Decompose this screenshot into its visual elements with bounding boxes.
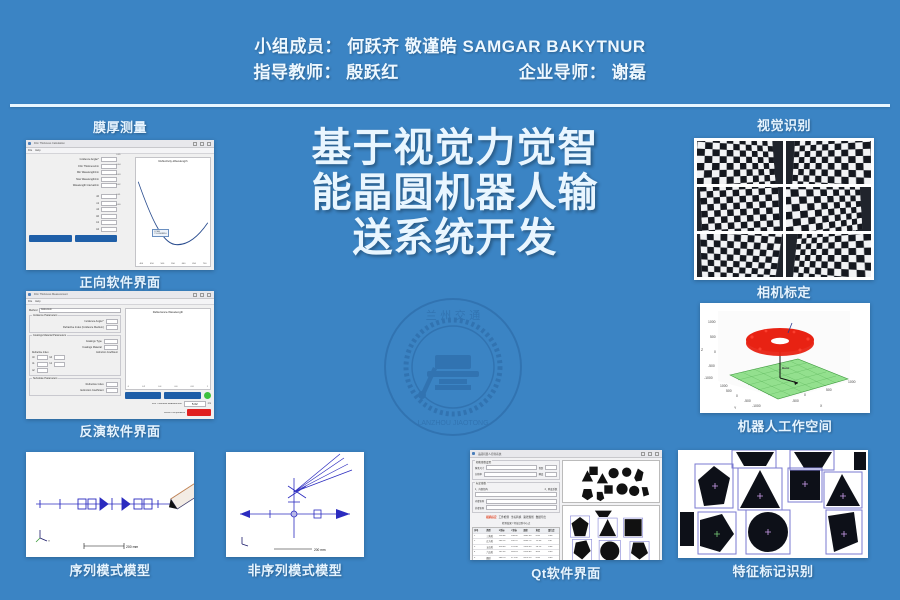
field-label: k1 (29, 221, 99, 224)
form-row: n1k1 (32, 362, 118, 367)
window-controls[interactable] (193, 293, 212, 297)
screenshot-sequential-model[interactable]: Y 200 mm (26, 452, 194, 557)
header-divider (10, 104, 890, 107)
cell: 1682.50 (522, 535, 534, 537)
panel-film-thickness-heading: 膜厚测量 (26, 120, 214, 136)
col-header-k: Extinction Coefficient (96, 352, 117, 354)
cell: 2045.75 (522, 540, 534, 542)
panel-film-thickness-caption: 正向软件界面 (26, 275, 214, 291)
window-titlebar: Film Thickness Measurement (26, 291, 214, 299)
x-tick: 0.4 (158, 386, 161, 388)
coatings-parameters-group: Coatings Material Parameters Coatings Ty… (29, 335, 121, 377)
column-headers: Refractive Index Extinction Coefficient (32, 352, 118, 354)
field-label: Wavelength Interval/nm (29, 184, 99, 187)
form-row: Incidence Angle/° (29, 157, 117, 162)
field-input[interactable] (37, 368, 48, 373)
field-input[interactable] (545, 472, 557, 477)
menu-help[interactable]: Help (35, 149, 40, 152)
field-input[interactable] (54, 355, 65, 360)
svg-text:0: 0 (804, 393, 806, 397)
field-label: 内参矩阵 (475, 499, 484, 503)
tab-path-planning[interactable]: 路径规划 (523, 515, 533, 519)
y-tick: 0.05 (116, 154, 150, 156)
x-tick: 650 (192, 263, 196, 265)
field-input[interactable] (101, 207, 117, 212)
tab-coordinate-transform[interactable]: 坐标转换 (511, 515, 521, 519)
form-row: n2 (32, 368, 118, 373)
app-icon (472, 452, 475, 455)
field-label: Min Wavelength/nm (29, 171, 99, 174)
cell: 五边形 (485, 545, 497, 549)
field-input[interactable] (101, 164, 117, 169)
x-tick: 0 (128, 386, 129, 388)
form-row: Coatings Type (32, 339, 118, 344)
calibration-image[interactable] (786, 187, 872, 230)
field-input[interactable] (484, 472, 537, 477)
panel-vision: 视觉识别 相机标定 (694, 118, 874, 301)
field-label: Incidence Angle/° (32, 320, 104, 323)
cell: 126.48 (498, 535, 510, 537)
svg-text:-1000: -1000 (704, 376, 713, 380)
field-label: 像素尺寸 (475, 466, 484, 470)
screenshot-nonsequential-model[interactable]: 200 mm (226, 452, 364, 557)
panel-qt: 晶圆机器人控制系统 相机参数设置 像素尺寸 焦距 (470, 450, 662, 582)
svg-text:0: 0 (736, 394, 738, 398)
field-input[interactable] (101, 227, 117, 232)
cell: 8.65 (535, 551, 547, 553)
field-input[interactable] (486, 505, 557, 510)
calculate-button[interactable] (29, 235, 72, 242)
field-label: n1 (29, 202, 99, 205)
result-row: Film Thickness Measurement 5.02 nm (125, 401, 211, 407)
app-icon (28, 293, 31, 296)
chart-title: Reflectance-Wavelength (126, 309, 210, 314)
cell: 0.99 (547, 557, 559, 559)
field-input[interactable] (106, 319, 118, 324)
panel-sequential-caption: 序列模式模型 (26, 563, 194, 579)
window-title: Film Thickness Measurement (33, 293, 191, 296)
panel-vision-heading: 视觉识别 (694, 118, 874, 134)
field-label: n0 (32, 357, 35, 359)
qt-subtitle: 检测结果 / 特征识别中心点 (472, 521, 560, 525)
svg-text:兰 州 交 通: 兰 州 交 通 (426, 308, 481, 322)
reflectivity-chart[interactable]: Reflectivity-Wavelength X 580 Y 0.010851… (135, 157, 211, 267)
field-input[interactable] (37, 355, 48, 360)
field-label: 分辨率 (475, 472, 482, 476)
field-label: n1 (32, 363, 35, 365)
cell: 142.37 (510, 540, 522, 542)
field-input[interactable] (54, 362, 65, 367)
method-select[interactable]: Extremum (39, 308, 120, 313)
menu-file[interactable]: File (28, 300, 32, 303)
panel-inversion: Film Thickness Measurement File Help Met… (26, 291, 214, 440)
reflectance-chart[interactable]: Reflectance-Wavelength 0 0.2 0.4 0.6 0.8… (125, 308, 211, 390)
temperature-label: Current Temperature (125, 412, 185, 414)
panel-nonsequential-caption: 非序列模式模型 (226, 563, 364, 579)
method-row: Method Extremum (29, 308, 121, 313)
field-input[interactable] (106, 388, 118, 393)
form-row: Refractive Index (Incidence Medium) (32, 325, 118, 330)
field-label: Coatings Material (32, 346, 102, 349)
cell: 六边形 (485, 550, 497, 554)
panel-workspace: 10005000 -500-1000 Z 10005000 -500-1000 … (700, 303, 870, 435)
maximize-icon[interactable] (200, 142, 204, 146)
panel-qt-caption: Qt软件界面 (470, 566, 662, 582)
svg-text:Z: Z (701, 348, 703, 352)
incidence-parameters-group: Incidence Parameters Incidence Angle/° R… (29, 315, 121, 334)
field-input[interactable] (101, 214, 117, 219)
cell: 12.40 (535, 540, 547, 542)
cell: 0.00 (535, 557, 547, 559)
svg-text:-1000: -1000 (752, 404, 761, 408)
table-row: 5圆形248.70271.922875.200.000.99 (473, 556, 559, 561)
group-title: Substrate Parameters (32, 377, 58, 380)
screenshot-robot-workspace[interactable]: 10005000 -500-1000 Z 10005000 -500-1000 … (700, 303, 870, 413)
form-row: Max Wavelength/nm (29, 177, 117, 182)
form-row: Incidence Angle/° (32, 319, 118, 324)
form-row: Extinction Coefficient (32, 388, 118, 393)
panel-feature-marks: 特征标记识别 (678, 450, 868, 580)
field-input[interactable] (101, 170, 117, 175)
reset-button[interactable] (187, 409, 211, 416)
screenshot-calibration-images[interactable] (694, 138, 874, 280)
calibration-image[interactable] (786, 234, 872, 277)
calibration-image[interactable] (697, 187, 783, 230)
result-label: Film Thickness Measurement (125, 403, 182, 405)
close-icon[interactable] (207, 293, 211, 297)
tooltip-y: Y 0.0108510 (154, 233, 166, 235)
svg-text:LANZHOU JIAOTONG: LANZHOU JIAOTONG (417, 420, 488, 427)
field-label: Incidence Angle/° (29, 158, 99, 161)
form-row: 像素尺寸 焦距 (475, 465, 557, 470)
field-input[interactable] (101, 194, 117, 199)
svg-text:1000: 1000 (708, 320, 716, 324)
header-members: 小组成员： 何跃齐 敬谨皓 SAMGAR BAKYTNUR (0, 34, 900, 60)
svg-text:-500: -500 (744, 399, 751, 403)
app-icon (28, 142, 31, 145)
qt-tab-bar[interactable]: 相机标定 工件检测 坐标转换 路径规划 数据导出 (472, 515, 560, 519)
field-label: k0 (29, 215, 99, 218)
svg-text:X: X (820, 404, 823, 408)
field-input[interactable] (106, 382, 118, 387)
cell: 24.10 (535, 546, 547, 548)
form-row: k0 (29, 214, 117, 219)
cell: 318.60 (498, 546, 510, 548)
binary-shapes-view[interactable] (562, 460, 660, 503)
x-tick: 700 (203, 263, 207, 265)
cell: 0.98 (547, 535, 559, 537)
field-label: Extinction Coefficient (32, 389, 104, 392)
svg-text:-500: -500 (792, 399, 799, 403)
screenshot-feature-detection[interactable] (678, 450, 868, 558)
field-input[interactable] (37, 362, 48, 367)
form-row: 内参矩阵 (475, 499, 557, 504)
svg-text:500: 500 (826, 388, 832, 392)
result-value: 5.02 (184, 401, 206, 407)
x-tick: 600 (182, 263, 186, 265)
col-index: 序号 (473, 528, 485, 532)
field-input[interactable] (486, 499, 557, 504)
tab-data-export[interactable]: 数据导出 (536, 515, 546, 519)
x-tick: 500 (161, 263, 165, 265)
minimize-icon[interactable] (193, 293, 197, 297)
group-title: Incidence Parameters (32, 314, 58, 317)
svg-text:-500: -500 (708, 364, 715, 368)
field-label: n2 (29, 208, 99, 211)
poster-header: 小组成员： 何跃齐 敬谨皓 SAMGAR BAKYTNUR 指导教师： 殷跃红 … (0, 0, 900, 86)
field-label: 焦距 (539, 466, 544, 470)
svg-text:1000: 1000 (848, 380, 856, 384)
x-tick: 450 (150, 263, 154, 265)
x-tick: 550 (171, 263, 175, 265)
read-button[interactable] (164, 392, 201, 399)
panel-feature-marks-caption: 特征标记识别 (678, 564, 868, 580)
header-advisor: 指导教师： 殷跃红 (254, 60, 399, 86)
menu-file[interactable]: File (28, 149, 32, 152)
substrate-parameters-group: Substrate Parameters Refractive Index Ex… (29, 378, 121, 397)
field-input[interactable] (106, 325, 118, 330)
group-title: 标定参数 (475, 481, 487, 485)
x-tick: 400 (139, 263, 143, 265)
calibration-parameters-group: 标定参数 1、内参矩阵 2、畸变系数 内参矩阵 外参矩阵 (472, 482, 560, 514)
cell: 271.92 (510, 557, 522, 559)
chart-x-axis: 0 0.2 0.4 0.6 0.8 1 (128, 386, 208, 388)
cell: 5 (473, 557, 485, 559)
group-title: Coatings Material Parameters (32, 334, 67, 337)
cell: 204.15 (498, 540, 510, 542)
form-row: n0k0 (32, 355, 118, 360)
note-1: 1、内参矩阵 (475, 487, 488, 491)
screenshot-inversion-software[interactable]: Film Thickness Measurement File Help Met… (26, 291, 214, 419)
matrix-display (475, 492, 557, 497)
maximize-icon[interactable] (200, 293, 204, 297)
method-label: Method (29, 309, 37, 312)
tab-camera-calibration[interactable]: 相机标定 (486, 515, 496, 519)
window-controls[interactable] (641, 452, 660, 456)
window-titlebar: 晶圆机器人控制系统 (470, 450, 662, 458)
field-label: Coatings Type (32, 340, 102, 343)
field-input[interactable] (101, 183, 117, 188)
cell: 1920.30 (522, 546, 534, 548)
form-row: Wavelength Interval/nm (29, 183, 117, 188)
chart-x-axis: 400 450 500 550 600 650 700 (136, 263, 210, 265)
cell: 1 (473, 535, 485, 537)
form-row: 分辨率 畸变 (475, 472, 557, 477)
svg-text:200 mm: 200 mm (314, 548, 326, 552)
col-y: Y坐标 (510, 528, 522, 532)
minimize-icon[interactable] (641, 452, 645, 456)
form-row: Coatings Material (32, 345, 118, 350)
col-confidence: 置信度 (547, 528, 559, 532)
svg-text:200 mm: 200 mm (126, 545, 138, 549)
form-row: Min Wavelength/nm (29, 170, 117, 175)
field-select[interactable] (104, 345, 118, 350)
field-label: k0 (50, 357, 52, 359)
group-title: 相机参数设置 (475, 460, 492, 464)
x-tick: 0.6 (174, 386, 177, 388)
form-row: k2 (29, 227, 117, 232)
screenshot-forward-software[interactable]: Film Thickness Calculation File Help Inc… (26, 140, 214, 270)
parameter-form[interactable]: Incidence Angle/° Film Thickness/nm Min … (26, 154, 120, 270)
x-tick: 0.8 (191, 386, 194, 388)
cell: 圆形 (485, 556, 497, 560)
svg-text:1000: 1000 (720, 384, 728, 388)
field-input[interactable] (486, 465, 537, 470)
cell: 176.04 (510, 546, 522, 548)
col-x: X坐标 (498, 528, 510, 532)
form-row: n0 (29, 194, 117, 199)
cell: 265.18 (510, 551, 522, 553)
form-row: Refractive Index (32, 382, 118, 387)
col-header-n: Refractive Index (32, 352, 49, 354)
field-input[interactable] (545, 465, 557, 470)
field-label: k2 (29, 228, 99, 231)
svg-text:500: 500 (726, 389, 732, 393)
cell: 248.70 (498, 557, 510, 559)
field-input[interactable] (101, 157, 117, 162)
cell: 0.96 (547, 546, 559, 548)
minimize-icon[interactable] (193, 142, 197, 146)
panel-film-thickness: 膜厚测量 Film Thickness Calculation File Hel… (26, 120, 214, 291)
close-icon[interactable] (655, 452, 659, 456)
field-label: n2 (32, 370, 35, 372)
panel-inversion-caption: 反演软件界面 (26, 424, 214, 440)
cell: 三角形 (485, 534, 497, 538)
temperature-row: Current Temperature (125, 409, 211, 416)
panel-vision-caption: 相机标定 (694, 285, 874, 301)
svg-text:Base: Base (782, 366, 790, 370)
cell: 2875.20 (522, 557, 534, 559)
chart-tooltip: X 580 Y 0.0108510 (152, 229, 168, 237)
cell: 0.99 (547, 551, 559, 553)
field-select[interactable] (104, 339, 118, 344)
svg-text:Y: Y (48, 539, 50, 543)
cell: 3 (473, 546, 485, 548)
header-advisors: 指导教师： 殷跃红 企业导师： 谢磊 (0, 60, 900, 86)
detected-shapes-view[interactable] (562, 505, 660, 560)
title-line-1: 基于视觉力觉智 (250, 126, 660, 171)
university-seal: 兰 州 交 通 LANZHOU JIAOTONG (383, 297, 523, 437)
screenshot-qt-software[interactable]: 晶圆机器人控制系统 相机参数设置 像素尺寸 焦距 (470, 450, 662, 560)
close-icon[interactable] (207, 142, 211, 146)
panel-workspace-caption: 机器人工作空间 (700, 419, 870, 435)
menu-help[interactable]: Help (35, 300, 40, 303)
field-label: Max Wavelength/nm (29, 178, 99, 181)
window-controls[interactable] (193, 142, 212, 146)
field-label: k1 (50, 363, 52, 365)
col-type: 类型 (485, 528, 497, 532)
poster-title: 基于视觉力觉智 能晶圆机器人输 送系统开发 (250, 126, 660, 261)
generate-report-button[interactable] (75, 235, 118, 242)
svg-text:Y: Y (734, 406, 737, 410)
cell: 158.92 (510, 535, 522, 537)
inversion-form[interactable]: Method Extremum Incidence Parameters Inc… (26, 305, 124, 419)
svg-text:0: 0 (714, 350, 716, 354)
field-label: 外参矩阵 (475, 506, 484, 510)
field-label: Refractive Index (32, 383, 104, 386)
form-row: n2 (29, 207, 117, 212)
status-indicator (204, 392, 211, 399)
note-2: 2、畸变系数 (545, 487, 558, 491)
cell: 0.97 (547, 540, 559, 542)
field-input[interactable] (101, 177, 117, 182)
field-label: Refractive Index (Incidence Medium) (32, 326, 104, 329)
cell: 正方形 (485, 539, 497, 543)
window-titlebar: Film Thickness Calculation (26, 140, 214, 148)
title-line-2: 能晶圆机器人输 (250, 171, 660, 216)
calibration-image[interactable] (786, 141, 872, 184)
x-tick: 1 (207, 386, 208, 388)
panel-sequential: Y 200 mm 序列模式模型 (26, 452, 194, 579)
form-row: 外参矩阵 (475, 505, 557, 510)
calibration-image[interactable] (697, 141, 783, 184)
detection-results-table[interactable]: 序号 类型 X坐标 Y坐标 面积 角度 置信度 1三角形126.48158.92… (472, 527, 560, 560)
col-angle: 角度 (535, 528, 547, 532)
cell: 0.00 (535, 535, 547, 537)
maximize-icon[interactable] (648, 452, 652, 456)
field-label: n0 (29, 195, 99, 198)
title-line-3: 送系统开发 (250, 216, 660, 261)
form-row: Film Thickness/nm (29, 164, 117, 169)
field-input[interactable] (101, 201, 117, 206)
form-row: k1 (29, 220, 117, 225)
calibration-image[interactable] (697, 234, 783, 277)
field-label: 畸变 (539, 472, 544, 476)
x-tick: 0.2 (142, 386, 145, 388)
cell: 2410.60 (522, 551, 534, 553)
svg-text:500: 500 (710, 335, 716, 339)
camera-parameters-group: 相机参数设置 像素尺寸 焦距 分辨率 畸变 (472, 460, 560, 480)
import-button[interactable] (125, 392, 162, 399)
col-area: 面积 (522, 528, 534, 532)
result-unit: nm (208, 403, 211, 405)
cell: 4 (473, 551, 485, 553)
field-input[interactable] (101, 220, 117, 225)
window-title: 晶圆机器人控制系统 (477, 452, 639, 456)
window-title: Film Thickness Calculation (33, 142, 191, 145)
header-company-advisor: 企业导师： 谢磊 (519, 60, 647, 86)
field-label: Film Thickness/nm (29, 165, 99, 168)
tab-workpiece-detect[interactable]: 工件检测 (499, 515, 509, 519)
form-row: n1 (29, 201, 117, 206)
panel-nonsequential: 200 mm 非序列模式模型 (226, 452, 364, 579)
cell: 152.33 (498, 551, 510, 553)
notes-row: 1、内参矩阵 2、畸变系数 (475, 487, 557, 491)
cell: 2 (473, 540, 485, 542)
